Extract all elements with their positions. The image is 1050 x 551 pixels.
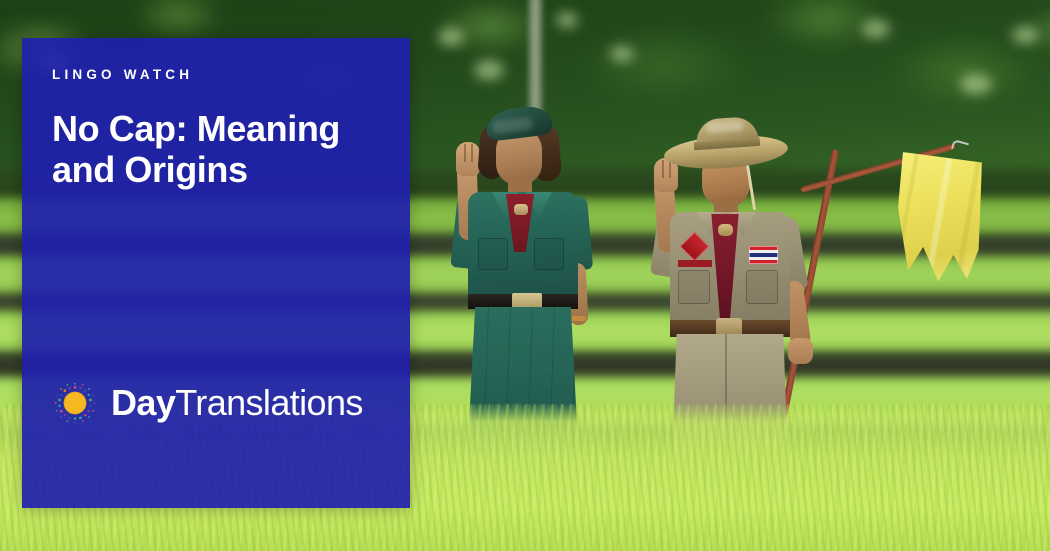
boy-shirt-pocket bbox=[746, 270, 778, 304]
brand-wordmark: DayTranslations bbox=[111, 385, 363, 421]
headline-line-1: No Cap: Meaning bbox=[52, 108, 340, 149]
girl-shirt-pocket bbox=[534, 238, 564, 270]
bokeh-light bbox=[556, 12, 578, 28]
boy-woggle bbox=[718, 224, 733, 236]
sun-icon bbox=[52, 380, 98, 426]
blue-overlay-panel: LINGO WATCH No Cap: Meaning and Origins bbox=[22, 38, 410, 508]
eyebrow-label: LINGO WATCH bbox=[52, 68, 380, 82]
page-title: No Cap: Meaning and Origins bbox=[52, 108, 380, 192]
bokeh-light bbox=[474, 60, 504, 80]
brand-name-bold: Day bbox=[111, 382, 175, 423]
yellow-flag bbox=[898, 152, 982, 284]
bokeh-light bbox=[1012, 26, 1038, 44]
bokeh-light bbox=[610, 46, 634, 62]
bokeh-light bbox=[862, 20, 890, 38]
banner-image: LINGO WATCH No Cap: Meaning and Origins bbox=[0, 0, 1050, 551]
thai-flag-patch bbox=[749, 246, 778, 264]
brand-name-regular: Translations bbox=[175, 382, 363, 423]
girl-shirt-pocket bbox=[478, 238, 508, 270]
boy-shirt-pocket bbox=[678, 270, 710, 304]
bokeh-light bbox=[438, 28, 464, 46]
brand-logo[interactable]: DayTranslations bbox=[52, 380, 380, 426]
headline-line-2: and Origins bbox=[52, 149, 248, 190]
boy-flag-hand bbox=[788, 338, 813, 364]
bokeh-light bbox=[960, 74, 992, 94]
boy-chest-ribbon bbox=[678, 260, 712, 267]
girl-woggle bbox=[514, 204, 528, 215]
girl-salute-hand bbox=[456, 142, 480, 176]
